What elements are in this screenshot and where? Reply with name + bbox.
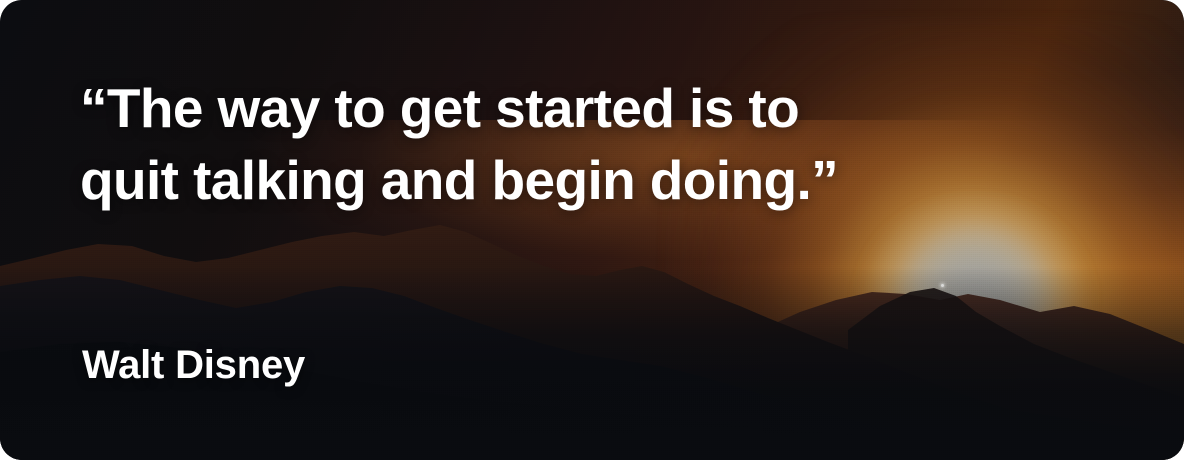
- quote-text: “The way to get started is to quit talki…: [80, 72, 880, 216]
- quote-card: “The way to get started is to quit talki…: [0, 0, 1184, 460]
- card-content: “The way to get started is to quit talki…: [0, 0, 1184, 460]
- quote-attribution: Walt Disney: [82, 343, 305, 388]
